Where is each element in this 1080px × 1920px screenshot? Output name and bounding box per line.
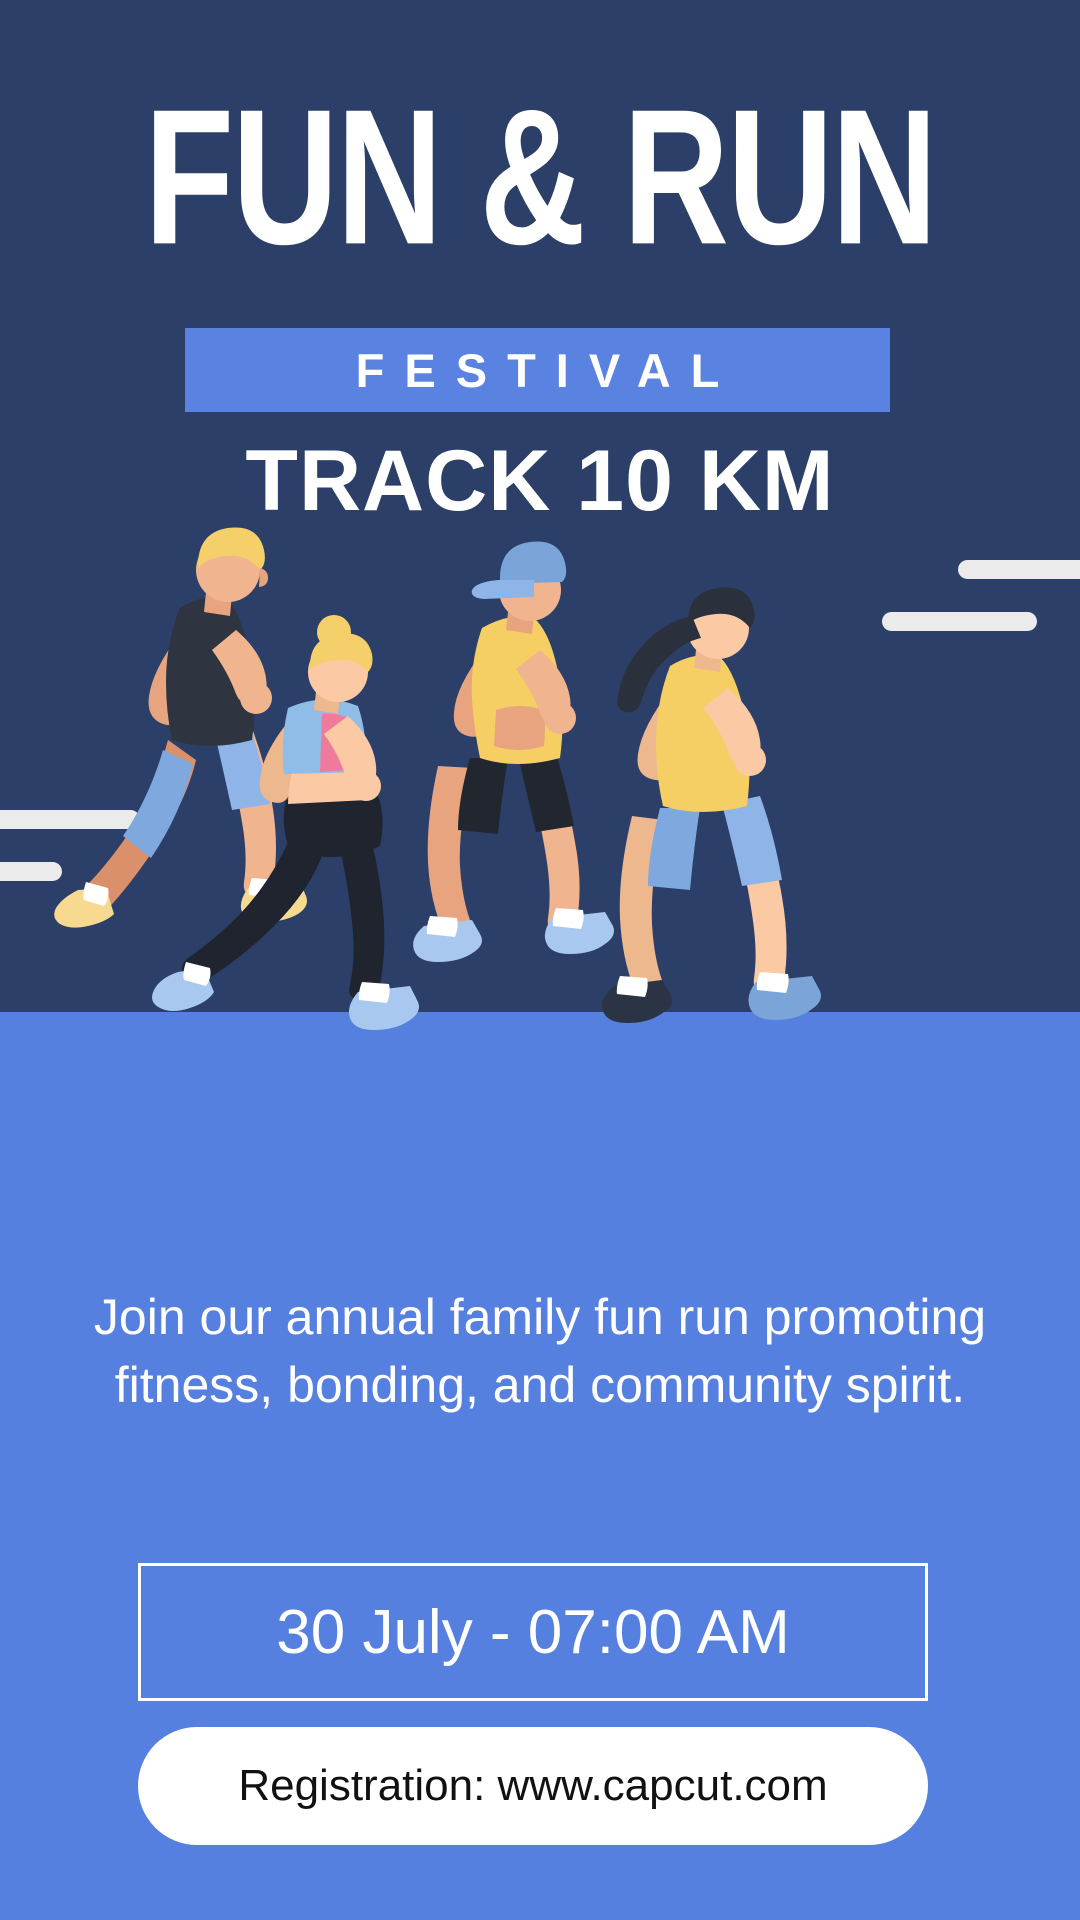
poster-canvas: FUN & RUN FESTIVAL TRACK 10 KM <box>0 0 1080 1920</box>
page-title: FUN & RUN <box>38 86 1042 269</box>
registration-label: Registration: www.capcut.com <box>238 1761 827 1811</box>
festival-label: FESTIVAL <box>185 328 890 412</box>
registration-button[interactable]: Registration: www.capcut.com <box>138 1727 928 1845</box>
runners-illustration <box>0 500 1080 1300</box>
date-time-label: 30 July - 07:00 AM <box>276 1597 790 1668</box>
runner-1-man-black-shirt <box>54 527 307 927</box>
runner-3-man-yellow-tank <box>413 542 614 962</box>
runner-4-woman-yellow-shirt <box>602 587 821 1023</box>
date-time-box: 30 July - 07:00 AM <box>138 1563 928 1701</box>
event-description: Join our annual family fun run promoting… <box>90 1283 990 1419</box>
